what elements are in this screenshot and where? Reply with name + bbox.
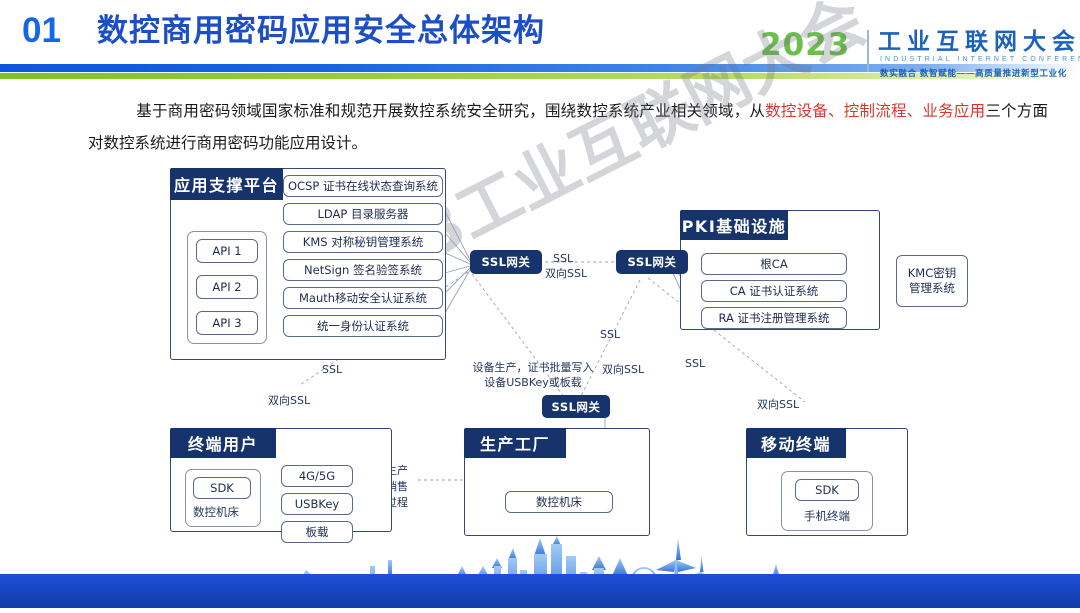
panel-pki: PKI基础设施 根CA CA 证书认证系统 RA 证书注册管理系统 bbox=[680, 210, 880, 330]
api-2[interactable]: API 2 bbox=[196, 275, 258, 299]
logo-location: 中国·常州 8月14日-16日 bbox=[762, 64, 830, 72]
api-3[interactable]: API 3 bbox=[196, 311, 258, 335]
terminal-option-usbkey[interactable]: USBKey bbox=[281, 493, 353, 515]
service-mauth[interactable]: Mauth移动安全认证系统 bbox=[283, 287, 443, 309]
label-right-ssl: SSL bbox=[685, 356, 705, 371]
logo-divider bbox=[867, 30, 869, 72]
api-1[interactable]: API 1 bbox=[196, 239, 258, 263]
footer-skyline bbox=[0, 530, 1080, 608]
label-center-mutual-ssl: 双向SSL bbox=[545, 266, 587, 281]
terminal-option-4g5g[interactable]: 4G/5G bbox=[281, 465, 353, 487]
kmc-key-management[interactable]: KMC密钥 管理系统 bbox=[896, 255, 968, 307]
terminal-sdk[interactable]: SDK bbox=[193, 477, 251, 499]
panel-app-platform-title: 应用支撑平台 bbox=[170, 168, 283, 200]
mobile-sdk[interactable]: SDK bbox=[795, 479, 859, 501]
ssl-gateway-right[interactable]: SSL网关 bbox=[616, 250, 688, 274]
logo-subtitle: 数实融合 数智赋能——高质量推进新型工业化 bbox=[880, 67, 1067, 79]
architecture-diagram: 应用支撑平台 API 1 API 2 API 3 OCSP 证书在线状态查询系统… bbox=[0, 150, 1080, 550]
label-right-mutual-ssl: 双向SSL bbox=[757, 397, 799, 412]
section-number: 01 bbox=[22, 10, 61, 52]
ssl-gateway-left[interactable]: SSL网关 bbox=[470, 250, 542, 274]
label-center-ssl: SSL bbox=[553, 251, 573, 266]
page-title: 数控商用密码应用安全总体架构 bbox=[97, 9, 545, 53]
panel-factory: 生产工厂 数控机床 bbox=[464, 428, 650, 536]
panel-terminal-user-title: 终端用户 bbox=[170, 428, 276, 458]
pki-root-ca[interactable]: 根CA bbox=[701, 253, 847, 275]
terminal-cnc-machine: 数控机床 bbox=[193, 505, 239, 520]
conference-logo: 2023 中国·常州 8月14日-16日 工业互联网大会 INDUSTRIAL … bbox=[754, 28, 1072, 84]
panel-pki-title: PKI基础设施 bbox=[680, 210, 788, 240]
label-left-ssl: SSL bbox=[322, 362, 342, 377]
footer-blue-band bbox=[0, 574, 1080, 608]
label-mid-ssl: SSL bbox=[600, 327, 620, 342]
pki-ca-system[interactable]: CA 证书认证系统 bbox=[701, 280, 847, 302]
ssl-gateway-factory[interactable]: SSL网关 bbox=[542, 395, 610, 418]
label-left-mutual-ssl: 双向SSL bbox=[268, 393, 310, 408]
slide: 01 数控商用密码应用安全总体架构 2023 中国·常州 8月14日-16日 工… bbox=[0, 0, 1080, 608]
logo-year: 2023 bbox=[760, 28, 850, 62]
panel-factory-title: 生产工厂 bbox=[464, 428, 566, 458]
panel-app-platform: 应用支撑平台 API 1 API 2 API 3 OCSP 证书在线状态查询系统… bbox=[170, 168, 446, 360]
paragraph-part-1: 基于商用密码领域国家标准和规范开展数控系统安全研究，围绕数控系统产业相关领域，从 bbox=[136, 102, 765, 120]
panel-mobile: 移动终端 SDK 手机终端 bbox=[746, 428, 908, 536]
mobile-phone-terminal: 手机终端 bbox=[795, 509, 859, 524]
service-ocsp[interactable]: OCSP 证书在线状态查询系统 bbox=[283, 175, 443, 197]
panel-terminal-user: 终端用户 SDK 数控机床 4G/5G USBKey 板载 bbox=[170, 428, 392, 532]
service-netsign[interactable]: NetSign 签名验签系统 bbox=[283, 259, 443, 281]
pki-ra-system[interactable]: RA 证书注册管理系统 bbox=[701, 307, 847, 329]
label-device-production-note: 设备生产，证书批量写入 设备USBKey或板载 bbox=[453, 360, 613, 390]
service-ldap[interactable]: LDAP 目录服务器 bbox=[283, 203, 443, 225]
factory-cnc-machine[interactable]: 数控机床 bbox=[505, 491, 613, 513]
logo-english-text: INDUSTRIAL INTERNET CONFERENCE bbox=[880, 56, 1080, 63]
paragraph-highlight: 数控设备、控制流程、业务应用 bbox=[765, 102, 985, 120]
logo-main-text: 工业互联网大会 bbox=[878, 28, 1080, 56]
panel-mobile-title: 移动终端 bbox=[746, 428, 846, 458]
service-unified-auth[interactable]: 统一身份认证系统 bbox=[283, 315, 443, 337]
label-mid-mutual-ssl: 双向SSL bbox=[602, 362, 644, 377]
service-kms[interactable]: KMS 对称秘钥管理系统 bbox=[283, 231, 443, 253]
